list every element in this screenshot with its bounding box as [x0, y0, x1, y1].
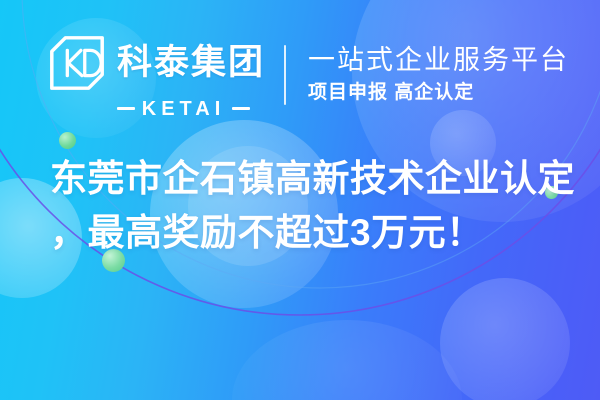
tagline-sub: 项目申报 高企认定 [308, 81, 569, 105]
tagline-main: 一站式企业服务平台 [308, 45, 569, 75]
headline-line-1: 东莞市企石镇高新技术企业认定 [50, 152, 570, 206]
brand-name-cn: 科泰集团 [117, 45, 265, 80]
brand-logo-row: 科泰集团 [46, 32, 265, 94]
header-divider [284, 45, 286, 105]
dash-right-icon [232, 107, 250, 110]
headline: 东莞市企石镇高新技术企业认定 ，最高奖励不超过3万元！ [50, 152, 570, 259]
decorative-dot-green-small [59, 132, 76, 149]
banner-header: 科泰集团 KETAI 一站式企业服务平台 项目申报 高企认定 [46, 32, 569, 118]
promo-banner: 科泰集团 KETAI 一站式企业服务平台 项目申报 高企认定 东莞市企石镇高新技… [0, 0, 600, 400]
dash-left-icon [117, 107, 135, 110]
brand-name-en: KETAI [142, 99, 226, 119]
ketai-diamond-monogram-icon [46, 32, 108, 94]
brand-logo[interactable]: 科泰集团 KETAI [46, 32, 265, 119]
tagline-block: 一站式企业服务平台 项目申报 高企认定 [308, 45, 569, 105]
brand-en-row: KETAI [117, 99, 251, 119]
headline-line-2: ，最高奖励不超过3万元！ [50, 206, 570, 260]
